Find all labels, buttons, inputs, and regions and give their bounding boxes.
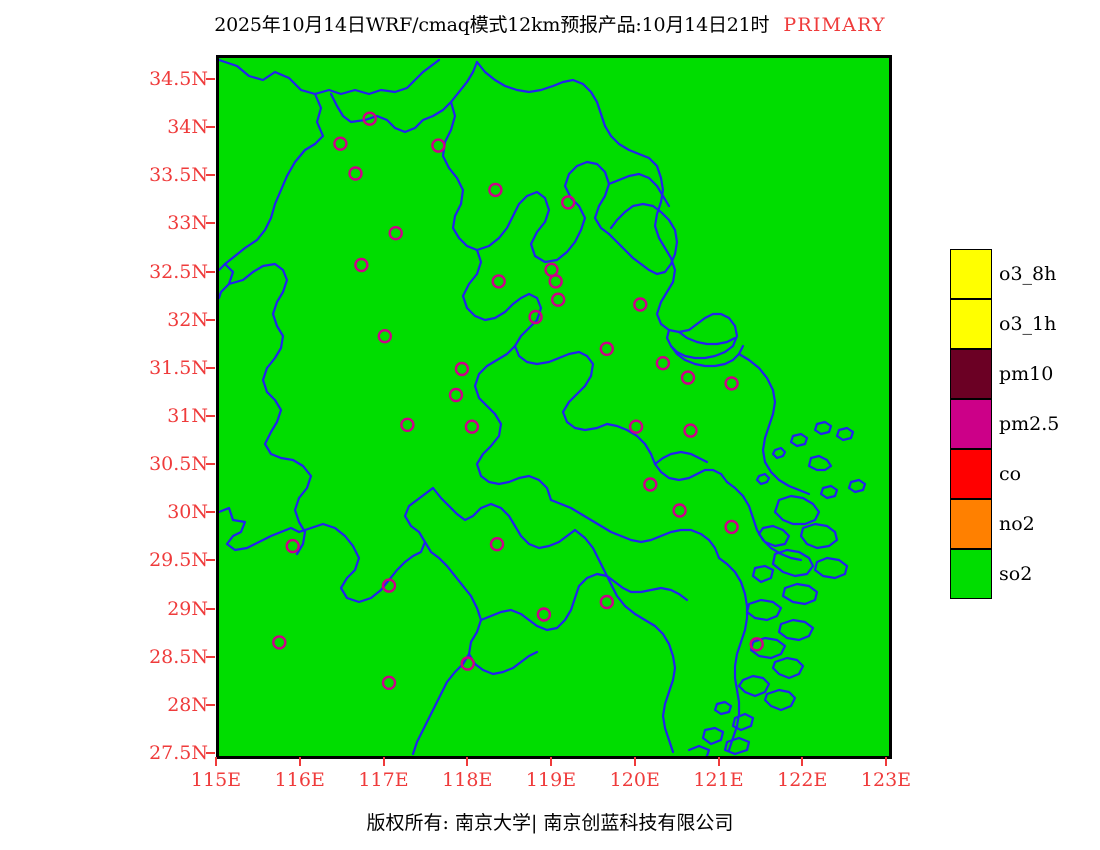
x-axis-label: 120E (610, 769, 660, 791)
y-axis-label: 34.5N (120, 68, 208, 90)
legend-item-no2[interactable]: no2 (950, 499, 994, 549)
legend-item-o3-8h[interactable]: o3_8h (950, 249, 994, 299)
legend-swatch (950, 349, 992, 399)
copyright-text: 版权所有: 南京大学| 南京创蓝科技有限公司 (367, 812, 734, 834)
title-primary-badge: PRIMARY (783, 14, 885, 36)
y-axis-label: 30N (120, 501, 208, 523)
legend-swatch (950, 249, 992, 299)
y-axis-label: 34N (120, 116, 208, 138)
y-axis-label: 27.5N (120, 742, 208, 764)
x-axis-label: 118E (442, 769, 492, 791)
y-axis-label: 28.5N (120, 646, 208, 668)
y-axis-label: 29N (120, 598, 208, 620)
page-title: 2025年10月14日WRF/cmaq模式12km预报产品:10月14日21时P… (0, 10, 1100, 37)
x-axis-tick (718, 757, 720, 766)
x-axis-label: 119E (526, 769, 576, 791)
y-axis-label: 28N (120, 694, 208, 716)
legend-label: pm2.5 (999, 413, 1059, 435)
legend-label: o3_8h (999, 263, 1056, 285)
x-axis-tick (885, 757, 887, 766)
x-axis-tick (550, 757, 552, 766)
legend-swatch (950, 399, 992, 449)
legend-label: no2 (999, 513, 1035, 535)
title-main-text: 2025年10月14日WRF/cmaq模式12km预报产品:10月14日21时 (214, 14, 769, 36)
map-vector-layer (219, 58, 889, 756)
legend-swatch (950, 549, 992, 599)
x-axis-tick (466, 757, 468, 766)
legend-label: co (999, 463, 1021, 485)
legend-swatch (950, 299, 992, 349)
y-axis-label: 32N (120, 309, 208, 331)
x-axis-tick (634, 757, 636, 766)
footer: 版权所有: 南京大学| 南京创蓝科技有限公司 (0, 808, 1100, 835)
x-axis-label: 121E (693, 769, 743, 791)
x-axis-tick (215, 757, 217, 766)
x-axis-label: 122E (777, 769, 827, 791)
x-axis-label: 117E (358, 769, 408, 791)
legend-swatch (950, 499, 992, 549)
map-background (219, 58, 889, 756)
y-axis-label: 30.5N (120, 453, 208, 475)
x-axis-tick (801, 757, 803, 766)
y-axis-label: 33.5N (120, 164, 208, 186)
legend-label: pm10 (999, 363, 1053, 385)
y-axis-label: 29.5N (120, 549, 208, 571)
x-axis-tick (299, 757, 301, 766)
legend-panel: o3_8ho3_1hpm10pm2.5cono2so2 (950, 249, 994, 599)
y-axis-label: 32.5N (120, 261, 208, 283)
x-axis-label: 116E (275, 769, 325, 791)
legend-item-pm2-5[interactable]: pm2.5 (950, 399, 994, 449)
y-axis-label: 33N (120, 212, 208, 234)
legend-item-pm10[interactable]: pm10 (950, 349, 994, 399)
map-plot-area[interactable] (216, 55, 892, 759)
x-axis-tick (383, 757, 385, 766)
legend-label: o3_1h (999, 313, 1056, 335)
x-axis-label: 123E (861, 769, 911, 791)
legend-label: so2 (999, 563, 1032, 585)
legend-item-co[interactable]: co (950, 449, 994, 499)
legend-swatch (950, 449, 992, 499)
x-axis-label: 115E (191, 769, 241, 791)
y-axis-label: 31.5N (120, 357, 208, 379)
legend-item-so2[interactable]: so2 (950, 549, 994, 599)
y-axis-label: 31N (120, 405, 208, 427)
legend-item-o3-1h[interactable]: o3_1h (950, 299, 994, 349)
